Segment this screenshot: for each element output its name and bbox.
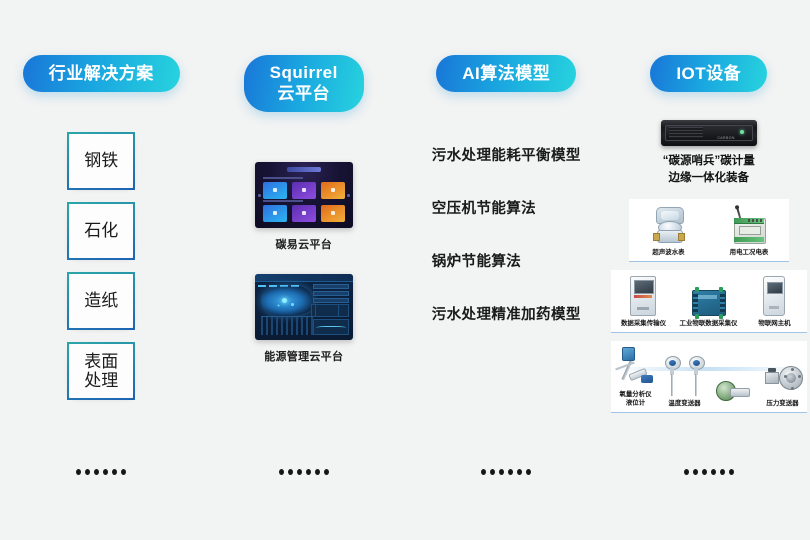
device-label: 工业物联数据采集仪 [680,319,738,327]
device-label: 数据采集传输仪 [621,319,666,327]
header-pill-label: AI算法模型 [462,64,550,83]
industrial-iot-gateway-icon [692,276,726,316]
header-pill-label: 行业解决方案 [49,64,154,83]
continuation-dots-row [0,469,810,475]
map-visualization [261,286,313,316]
iot-device-stack: CARBON “碳源哨兵”碳计量 边缘一体化装备 [611,120,807,413]
green-gas-sensor-icon [716,365,750,405]
server-brand-mark: CARBON [717,136,734,140]
industry-label-line1: 钢铁 [84,151,118,171]
dot [112,469,117,475]
industry-label-line1: 石化 [84,221,118,241]
industry-box-steel[interactable]: 钢铁 [67,132,135,190]
dot [306,469,311,475]
dot [517,469,522,475]
dashboard-section-line [263,177,303,179]
hero-device-caption-line1: “碳源哨兵”碳计量 [663,153,755,170]
dot [711,469,716,475]
continuation-dots-algorithms [405,469,608,475]
dot [684,469,689,475]
device-panel-instruments: 氧量分析仪 液位计 温度变送器 [611,341,807,413]
dashboard-tile [263,182,287,199]
device-item-ultrasonic-water-meter[interactable]: 超声波水表 [642,205,695,257]
device-item-power-meter[interactable]: 用电工况电表 [722,205,775,257]
hero-device-caption-line2: 边缘一体化装备 [663,170,755,187]
platform-item-energy-management[interactable]: 能源管理云平台 [255,274,353,364]
dot [121,469,126,475]
dot [279,469,284,475]
dot [103,469,108,475]
header-pill-label: IOT设备 [676,64,741,83]
header-pill-ai-algorithms[interactable]: AI算法模型 [436,55,576,92]
power-meter-icon [731,205,767,245]
continuation-dots-iot [608,469,810,475]
device-label: 用电工况电表 [729,248,768,256]
dot [702,469,707,475]
dashboard-tile-grid-row1 [263,182,345,199]
data-acquisition-cabinet-icon [630,276,656,316]
industry-label-line1: 造纸 [84,291,118,311]
device-item-pressure-transmitter[interactable]: 压力变送器 [758,356,807,408]
device-label: 物联网主机 [758,319,790,327]
dot [76,469,81,475]
device-panel-acquisition: 数据采集传输仪 工业物联数据采集仪 [611,270,807,333]
oxygen-analyser-icon [613,347,657,387]
dashboard-chart [315,304,339,317]
header-pill-label: Squirrel [270,63,338,82]
industry-box-surface-treatment[interactable]: 表面 处理 [67,342,135,400]
dot [499,469,504,475]
ultrasonic-water-meter-icon [653,205,685,245]
industry-label-line1: 表面 [84,352,118,372]
industry-box-papermaking[interactable]: 造纸 [67,272,135,330]
dot [288,469,293,475]
rack-server-icon: CARBON [661,120,757,146]
dashboard-tile [321,182,345,199]
algorithm-list: 污水处理能耗平衡模型 空压机节能算法 锅炉节能算法 污水处理精准加药模型 [432,144,581,324]
column-cloud-platform: Squirrel 云平台 [203,55,406,540]
device-item-iot-host[interactable]: 物联网主机 [742,276,807,328]
header-pill-sublabel: 云平台 [270,83,338,104]
dot [729,469,734,475]
device-label: 超声波水表 [653,248,685,256]
temperature-transmitter-icon [664,356,704,396]
dashboard-table [261,316,313,335]
device-item-temperature-transmitter[interactable]: 温度变送器 [660,356,709,408]
platform-caption: 碳易云平台 [276,236,333,252]
platform-item-carbon-cloud[interactable]: 碳易云平台 [255,162,353,252]
platform-thumbnail-list: 碳易云平台 能源管理云平台 [255,162,353,364]
dot [720,469,725,475]
dashboard-tile [292,182,316,199]
device-label: 氧量分析仪 液位计 [619,391,651,408]
device-item-oxygen-analyser[interactable]: 氧量分析仪 液位计 [611,347,660,408]
algorithm-item-wastewater-dosing[interactable]: 污水处理精准加药模型 [432,303,581,324]
dashboard-tile [292,205,316,222]
dot [526,469,531,475]
dot [85,469,90,475]
pressure-transmitter-icon [761,356,803,396]
platform-caption: 能源管理云平台 [264,348,343,364]
dashboard-header-bar [255,274,353,282]
carousel-arrow-left-icon [258,194,261,197]
dashboard-tile [321,205,345,222]
device-item-gas-sensor[interactable] [709,365,758,408]
hero-device-caption: “碳源哨兵”碳计量 边缘一体化装备 [663,153,755,186]
header-pill-cloud-platform[interactable]: Squirrel 云平台 [244,55,364,112]
dot [693,469,698,475]
dashboard-tile [263,205,287,222]
algorithm-item-air-compressor[interactable]: 空压机节能算法 [432,197,536,218]
algorithm-item-wastewater-energy-balance[interactable]: 污水处理能耗平衡模型 [432,144,581,165]
device-label: 温度变送器 [668,399,700,407]
header-pill-industry-solutions[interactable]: 行业解决方案 [23,55,180,92]
energy-management-dashboard-thumbnail[interactable] [255,274,353,340]
header-pill-iot-devices[interactable]: IOT设备 [650,55,767,92]
industry-box-list: 钢铁 石化 造纸 表面 处理 [67,132,135,400]
continuation-dots-cloud [203,469,406,475]
dashboard-section-line [263,200,303,202]
column-iot-devices: IOT设备 CARBON “碳源哨兵”碳计量 边缘一体化装备 [608,55,810,540]
carousel-arrow-right-icon [347,194,350,197]
industry-box-petrochemical[interactable]: 石化 [67,202,135,260]
column-ai-algorithms: AI算法模型 污水处理能耗平衡模型 空压机节能算法 锅炉节能算法 污水处理精准加… [405,55,608,540]
iot-host-terminal-icon [763,276,785,316]
dashboard-line-chart [313,319,349,335]
dashboard-tile-grid-row2 [263,205,345,222]
industry-label-line2: 处理 [84,371,118,391]
column-industry-solutions: 行业解决方案 钢铁 石化 造纸 表面 处理 [0,55,203,540]
dot [315,469,320,475]
device-panel-metering: 超声波水表 用电工况电表 [629,199,789,262]
device-item-industrial-iot-collector[interactable]: 工业物联数据采集仪 [676,276,741,328]
dot [94,469,99,475]
dot [324,469,329,475]
device-label: 压力变送器 [766,399,798,407]
continuation-dots-industry [0,469,203,475]
solution-overview-board: 行业解决方案 钢铁 石化 造纸 表面 处理 [0,0,810,540]
dot [297,469,302,475]
carbon-cloud-dashboard-thumbnail[interactable] [255,162,353,228]
dot [490,469,495,475]
algorithm-item-boiler[interactable]: 锅炉节能算法 [432,250,521,271]
dot [481,469,486,475]
dashboard-title-bar [287,167,321,172]
dot [508,469,513,475]
device-item-data-acquisition-transmitter[interactable]: 数据采集传输仪 [611,276,676,328]
